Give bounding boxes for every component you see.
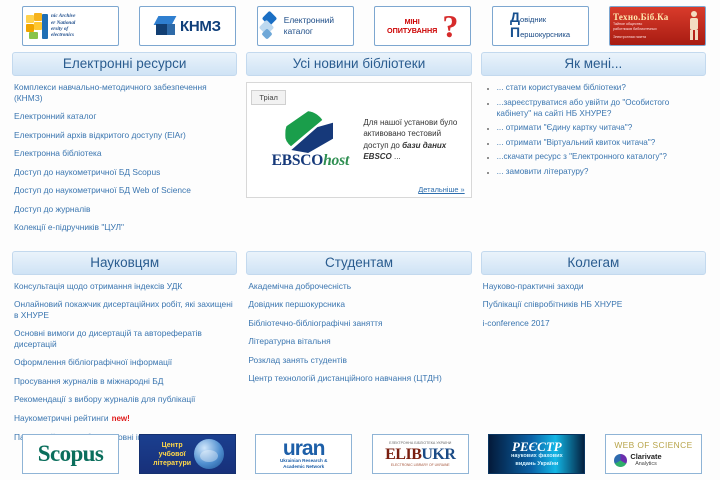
news-tab-trial[interactable]: Тріал xyxy=(251,90,286,105)
clarivate-analytics: Analytics xyxy=(630,461,661,468)
list-item[interactable]: Оформлення бібліографічної інформації xyxy=(14,357,235,368)
partner-banner-centre-educational-literature[interactable]: Центр учбової літератури xyxy=(139,434,236,474)
list-item[interactable]: ... отримати "Віртуальний квиток читача"… xyxy=(497,137,706,148)
banner-mini-poll[interactable]: МІНІ ОПИТУВАННЯ ? xyxy=(374,6,471,46)
panel-how-do-i: Як мені... ... стати користувачем бібліо… xyxy=(481,52,706,180)
elibukr-word-b: UKR xyxy=(421,446,455,463)
list-item[interactable]: Наукометричні рейтингиnew! xyxy=(14,413,235,425)
ebsco-wordmark: EBSCOhost xyxy=(257,152,363,170)
content-row-1: Електронні ресурси Комплекси навчально-м… xyxy=(0,50,720,241)
globe-icon xyxy=(194,439,224,469)
list-item-label: Наукометричні рейтинги xyxy=(14,413,109,423)
cul-line-3: літератури xyxy=(153,459,191,468)
panel-title-electronic-resources: Електронні ресурси xyxy=(12,52,237,76)
drop-cap-2: П xyxy=(510,24,520,40)
wos-wordmark: WEB OF SCIENCE xyxy=(614,440,692,451)
reestr-sub-2: видань України xyxy=(511,461,563,469)
banner-poll-text: МІНІ ОПИТУВАННЯ xyxy=(387,17,437,35)
scopus-wordmark: Scopus xyxy=(38,441,103,467)
banner-line-2: каталог xyxy=(284,26,334,37)
list-item[interactable]: Академічна доброчесність xyxy=(248,281,469,292)
list-item[interactable]: Розклад занять студентів xyxy=(248,355,469,366)
list-item[interactable]: ... стати користувачем бібліотеки? xyxy=(497,82,706,93)
banner-line-1: МІНІ xyxy=(387,17,437,26)
colleagues-list: Науково-практичні заходи Публікації спів… xyxy=(481,281,706,329)
students-list: Академічна доброчесність Довідник першок… xyxy=(246,281,471,384)
partner-banner-uran[interactable]: uran Ukrainian Research & Academic Netwo… xyxy=(255,434,352,474)
banner-line-1: nic Archive xyxy=(51,13,75,19)
banner-freshman-guide[interactable]: Довідник Першокурсника xyxy=(492,6,589,46)
list-item[interactable]: Рекомендації з вибору журналів для публі… xyxy=(14,394,235,405)
partner-banner-strip: Scopus Центр учбової літератури uran Ukr… xyxy=(0,434,720,474)
news-more-link[interactable]: Детальніше » xyxy=(418,185,464,194)
list-item[interactable]: ...зареєструватися або увійти до "Особис… xyxy=(497,97,706,119)
top-banner-strip: nic Archive er National ersity of electr… xyxy=(0,0,720,50)
banner-tehno-biblioteka[interactable]: Техно.Біб.Ка Тайное общество работников … xyxy=(609,6,706,46)
wos-block: WEB OF SCIENCE Clarivate Analytics xyxy=(614,440,692,468)
list-item-label: Онлайновий покажчик дисертаційних робіт,… xyxy=(14,299,233,320)
banner-electronic-catalogue[interactable]: Електронний каталог xyxy=(257,6,354,46)
question-mark-icon: ? xyxy=(442,12,458,40)
banner-tehno-sub2: работников библиотечных xyxy=(613,27,683,32)
person-icon xyxy=(686,11,702,41)
list-item-label: Консультація щодо отримання індексів УДК xyxy=(14,281,182,291)
list-item-label: Рекомендації з вибору журналів для публі… xyxy=(14,394,195,404)
news-excerpt-tail: ... xyxy=(392,152,401,161)
list-item[interactable]: Публікації співробітників НБ ХНУРЕ xyxy=(483,299,704,310)
uran-wordmark: uran xyxy=(280,439,328,458)
cul-line-1: Центр xyxy=(153,441,191,450)
banner-freshman-text: Довідник Першокурсника xyxy=(510,11,570,41)
list-item[interactable]: ...скачати ресурс з "Електронного катало… xyxy=(497,151,706,162)
ebsco-word-host: host xyxy=(323,152,349,169)
panel-title-students: Студентам xyxy=(246,251,471,275)
cul-text: Центр учбової літератури xyxy=(150,441,191,468)
list-item[interactable]: Центр технологій дистанційного навчання … xyxy=(248,373,469,384)
new-badge: new! xyxy=(112,414,130,423)
news-excerpt: Для нашої установи було активовано тесто… xyxy=(363,117,466,163)
reestr-sub-1: наукових фахових xyxy=(511,453,563,461)
partner-banner-scopus[interactable]: Scopus xyxy=(22,434,119,474)
banner-line-1: овідник xyxy=(520,15,546,24)
partner-banner-web-of-science[interactable]: WEB OF SCIENCE Clarivate Analytics xyxy=(605,434,702,474)
list-item[interactable]: ... отримати "Єдину картку читача"? xyxy=(497,122,706,133)
banner-catalogue-text: Електронний каталог xyxy=(284,15,334,37)
news-card: Тріал EBSCOhost Для нашої установи було … xyxy=(246,82,471,198)
panel-title-library-news[interactable]: Усі новини бібліотеки xyxy=(246,52,471,76)
uran-block: uran Ukrainian Research & Academic Netwo… xyxy=(280,439,328,470)
ebsco-logo-block: EBSCOhost xyxy=(251,109,363,170)
researchers-list: Консультація щодо отримання індексів УДК… xyxy=(12,281,237,443)
banner-tehno-title: Техно.Біб.Ка xyxy=(613,12,683,22)
clarivate-name: Clarivate xyxy=(630,453,661,461)
panel-colleagues: Колегам Науково-практичні заходи Публіка… xyxy=(481,251,706,337)
uran-sub-1: Ukrainian Research & xyxy=(280,458,328,464)
list-item[interactable]: Електронний архів відкритого доступу (El… xyxy=(14,130,235,141)
list-item[interactable]: Електронний каталог xyxy=(14,111,235,122)
clarivate-logo-icon xyxy=(614,454,627,467)
banner-tehno-sub3: Электронная газета xyxy=(613,35,683,40)
cul-line-2: учбової xyxy=(153,450,191,459)
list-item[interactable]: Бібліотечно-бібліографічні заняття xyxy=(248,318,469,329)
list-item-label: Просування журналів в міжнародні БД xyxy=(14,376,163,386)
list-item[interactable]: Доступ до журналів xyxy=(14,204,235,215)
diamonds-icon xyxy=(261,12,281,40)
banner-line-1: Електронний xyxy=(284,15,334,26)
list-item[interactable]: Доступ до наукометричної БД Web of Scien… xyxy=(14,185,235,196)
ebsco-word-main: EBSCO xyxy=(272,152,324,169)
list-item[interactable]: Довідник першокурсника xyxy=(248,299,469,310)
list-item[interactable]: Колекції е-підручників "ЦУЛ" xyxy=(14,222,235,233)
electronic-resources-list: Комплекси навчально-методичного забезпеч… xyxy=(12,82,237,233)
list-item[interactable]: Літературна вітальня xyxy=(248,336,469,347)
list-item[interactable]: Консультація щодо отримання індексів УДК xyxy=(14,281,235,292)
panel-library-news: Усі новини бібліотеки Тріал EBSCOhost Дл… xyxy=(246,52,471,198)
banner-line-4: electronics xyxy=(51,32,75,38)
clarivate-block: Clarivate Analytics xyxy=(614,453,692,468)
banner-elibrary-archive[interactable]: nic Archive er National ersity of electr… xyxy=(22,6,119,46)
panel-electronic-resources: Електронні ресурси Комплекси навчально-м… xyxy=(12,52,237,241)
elibukr-wordmark: ELIBUKR xyxy=(385,446,455,463)
drop-cap-1: Д xyxy=(510,9,520,25)
partner-banner-reestr[interactable]: РЕЄСТР наукових фахових видань України xyxy=(488,434,585,474)
how-do-i-list: ... стати користувачем бібліотеки? ...за… xyxy=(481,82,706,177)
panel-title-researchers: Науковцям xyxy=(12,251,237,275)
list-item[interactable]: Основні вимоги до дисертацій та авторефе… xyxy=(14,328,235,349)
partner-banner-elibukr[interactable]: ЕЛЕКТРОННА БІБЛІОТЕКА УКРАЇНИ ELIBUKR EL… xyxy=(372,434,469,474)
panel-researchers: Науковцям Консультація щодо отримання ін… xyxy=(12,251,237,451)
banner-knmz[interactable]: КНМЗ xyxy=(139,6,236,46)
library-portal-page: nic Archive er National ersity of electr… xyxy=(0,0,720,480)
panel-students: Студентам Академічна доброчесність Довід… xyxy=(246,251,471,392)
list-item[interactable]: i-conference 2017 xyxy=(483,318,704,329)
reestr-block: РЕЄСТР наукових фахових видань України xyxy=(511,440,563,468)
reestr-title: РЕЄСТР xyxy=(511,440,563,453)
list-item[interactable]: Онлайновий покажчик дисертаційних робіт,… xyxy=(14,299,235,320)
list-item-label: Оформлення бібліографічної інформації xyxy=(14,357,172,367)
banner-knmz-label: КНМЗ xyxy=(180,18,221,35)
ebsco-leaf-icon xyxy=(279,109,341,153)
banner-elibrary-archive-text: nic Archive er National ersity of electr… xyxy=(51,13,75,39)
content-row-2: Науковцям Консультація щодо отримання ін… xyxy=(0,241,720,451)
cube-icon xyxy=(155,15,177,37)
banner-line-2: ОПИТУВАННЯ xyxy=(387,26,437,35)
elibukr-block: ЕЛЕКТРОННА БІБЛІОТЕКА УКРАЇНИ ELIBUKR EL… xyxy=(385,441,455,468)
elibukr-word-a: ELIB xyxy=(385,446,421,463)
list-item-label: Основні вимоги до дисертацій та авторефе… xyxy=(14,328,202,349)
folders-icon xyxy=(26,13,48,39)
list-item[interactable]: Доступ до наукометричної БД Scopus xyxy=(14,167,235,178)
list-item[interactable]: Електронна бібліотека xyxy=(14,148,235,159)
list-item[interactable]: Комплекси навчально-методичного забезпеч… xyxy=(14,82,235,103)
uran-sub-2: Academic Network xyxy=(280,464,328,470)
banner-line-2: ершокурсника xyxy=(520,30,570,39)
elibukr-bottom-line: ELECTRONIC LIBRARY OF UKRAINE xyxy=(385,463,455,468)
panel-title-colleagues: Колегам xyxy=(481,251,706,275)
list-item[interactable]: Просування журналів в міжнародні БД xyxy=(14,376,235,387)
list-item[interactable]: Науково-практичні заходи xyxy=(483,281,704,292)
panel-title-how-do-i: Як мені... xyxy=(481,52,706,76)
list-item[interactable]: ... замовити літературу? xyxy=(497,166,706,177)
